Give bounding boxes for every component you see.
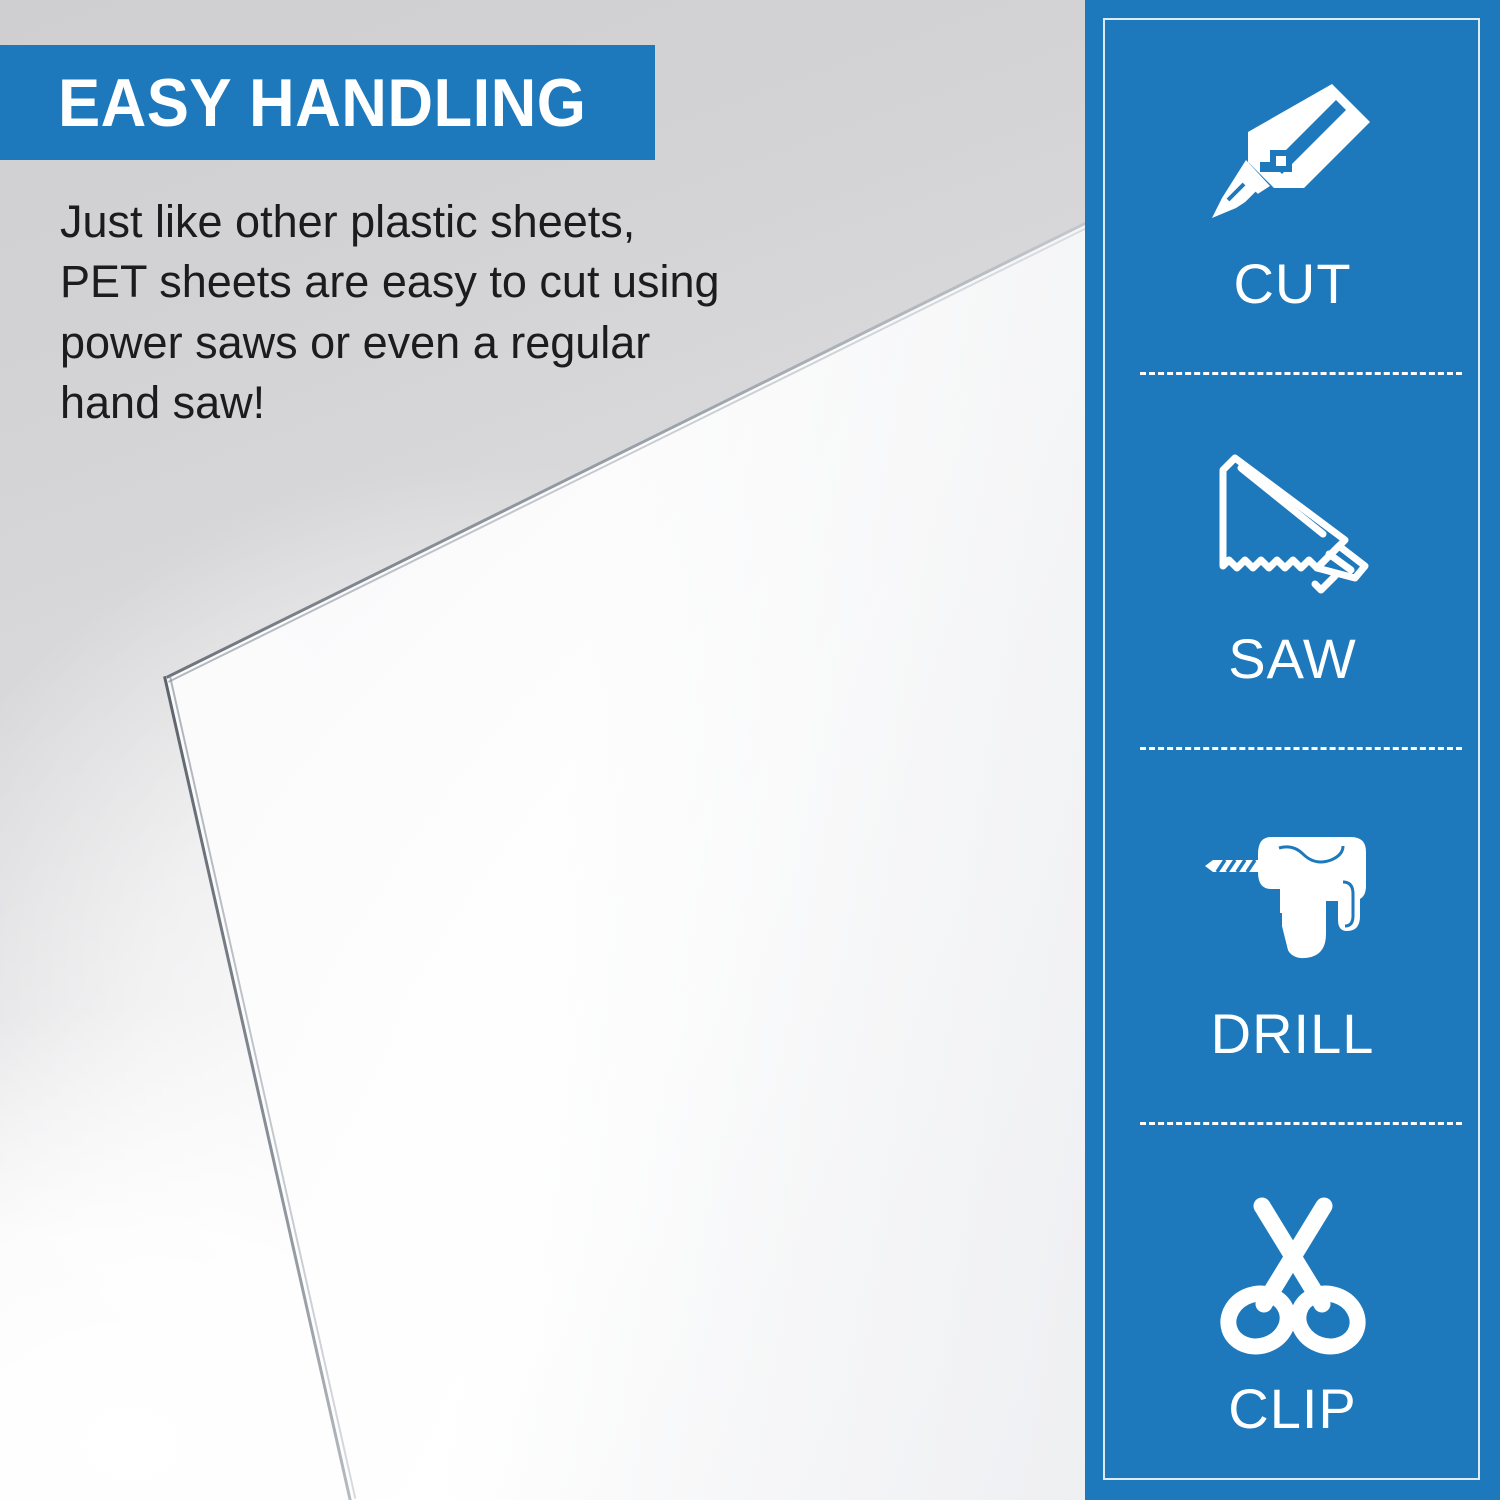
feature-label-saw: SAW [1228, 631, 1356, 687]
feature-saw: SAW [1085, 375, 1500, 750]
page-title: EASY HANDLING [58, 64, 586, 142]
utility-knife-icon [1198, 63, 1388, 238]
body-paragraph: Just like other plastic sheets, PET shee… [60, 192, 720, 433]
feature-clip: CLIP [1085, 1125, 1500, 1500]
features-panel: CUT SAW [1085, 0, 1500, 1500]
feature-label-clip: CLIP [1228, 1381, 1357, 1437]
feature-cut: CUT [1085, 0, 1500, 375]
feature-drill: DRILL [1085, 750, 1500, 1125]
infographic-root: EASY HANDLING Just like other plastic sh… [0, 0, 1500, 1500]
feature-label-drill: DRILL [1211, 1006, 1375, 1062]
power-drill-icon [1198, 813, 1388, 988]
feature-label-cut: CUT [1233, 256, 1351, 312]
hand-saw-icon [1198, 438, 1388, 613]
scissors-icon [1198, 1188, 1388, 1363]
header-banner: EASY HANDLING [0, 45, 655, 160]
